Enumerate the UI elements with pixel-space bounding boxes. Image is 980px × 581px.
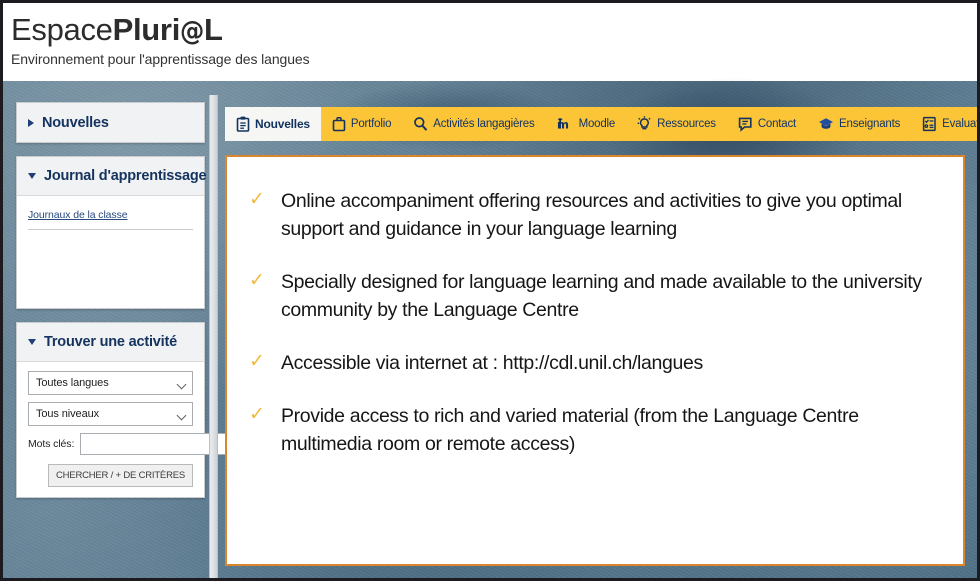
tab-nouvelles-label: Nouvelles bbox=[255, 117, 310, 131]
tab-activites-langagieres-label: Activités langagières bbox=[433, 118, 534, 130]
tab-ressources[interactable]: Ressources bbox=[626, 107, 727, 141]
logo-text-pluri: Pluri bbox=[113, 12, 180, 47]
bullet-item: ✓ Specially designed for language learni… bbox=[249, 268, 941, 324]
search-icon bbox=[413, 116, 428, 132]
moodle-icon: m bbox=[557, 116, 574, 132]
keywords-row: Mots clés: bbox=[28, 433, 193, 455]
chevron-down-icon bbox=[28, 339, 36, 345]
sidebar-panel-trouver-activite: Trouver une activité Toutes langues Tous… bbox=[16, 322, 205, 498]
tab-enseignants-label: Enseignants bbox=[839, 118, 900, 130]
sidebar-panel-nouvelles: Nouvelles bbox=[16, 102, 205, 143]
level-select-row: Tous niveaux bbox=[28, 402, 193, 426]
sidebar: Nouvelles Journal d'apprentissage Journa… bbox=[16, 102, 205, 511]
tab-contact-label: Contact bbox=[758, 118, 796, 130]
chevron-down-icon bbox=[177, 380, 187, 390]
sidebar-panel-nouvelles-header[interactable]: Nouvelles bbox=[17, 103, 204, 142]
tab-evaluations-label: Evaluations bbox=[942, 118, 980, 130]
briefcase-icon bbox=[332, 116, 346, 132]
checkmark-icon: ✓ bbox=[249, 271, 267, 290]
chevron-down-icon bbox=[177, 411, 187, 421]
bullet-item: ✓ Online accompaniment offering resource… bbox=[249, 187, 941, 243]
tab-activites-langagieres[interactable]: Activités langagières bbox=[402, 107, 545, 141]
lightbulb-icon bbox=[637, 116, 652, 132]
divider-rule bbox=[28, 229, 193, 230]
site-tagline: Environnement pour l'apprentissage des l… bbox=[11, 50, 977, 68]
message-icon bbox=[738, 116, 753, 132]
clipboard-icon bbox=[236, 116, 250, 132]
keywords-label: Mots clés: bbox=[28, 438, 74, 450]
site-header: EspacePluri@L Environnement pour l'appre… bbox=[3, 3, 977, 81]
main-tab-bar: Nouvelles Portfolio Activités langagière… bbox=[225, 107, 980, 141]
activity-search-form: Toutes langues Tous niveaux Mots clés: C… bbox=[17, 362, 204, 497]
tab-portfolio[interactable]: Portfolio bbox=[321, 107, 402, 141]
language-select-value: Toutes langues bbox=[36, 377, 109, 389]
checkmark-icon: ✓ bbox=[249, 405, 267, 424]
bullet-text: Online accompaniment offering resources … bbox=[281, 187, 941, 243]
checkmark-icon: ✓ bbox=[249, 190, 267, 209]
sidebar-panel-trouver-activite-title: Trouver une activité bbox=[44, 334, 177, 350]
sidebar-panel-nouvelles-title: Nouvelles bbox=[42, 115, 109, 131]
language-select-row: Toutes langues bbox=[28, 371, 193, 395]
logo-at-glyph: @ bbox=[180, 16, 204, 47]
sidebar-panel-journal-title: Journal d'apprentissage bbox=[44, 168, 206, 184]
tab-moodle[interactable]: m Moodle bbox=[546, 107, 627, 141]
level-select[interactable]: Tous niveaux bbox=[28, 402, 193, 426]
vertical-scrollbar[interactable] bbox=[209, 95, 218, 578]
search-button[interactable]: CHERCHER / + DE CRITÈRES bbox=[48, 464, 193, 487]
site-logo: EspacePluri@L bbox=[11, 13, 977, 49]
sidebar-panel-trouver-activite-header[interactable]: Trouver une activité bbox=[17, 323, 204, 362]
sidebar-panel-journal: Journal d'apprentissage Journaux de la c… bbox=[16, 156, 205, 309]
tab-ressources-label: Ressources bbox=[657, 118, 716, 130]
language-select[interactable]: Toutes langues bbox=[28, 371, 193, 395]
bullet-item: ✓ Accessible via internet at : http://cd… bbox=[249, 349, 941, 377]
bullet-text: Accessible via internet at : http://cdl.… bbox=[281, 349, 703, 377]
logo-text-l: L bbox=[204, 12, 223, 47]
bullet-text: Specially designed for language learning… bbox=[281, 268, 941, 324]
search-button-row: CHERCHER / + DE CRITÈRES bbox=[28, 464, 193, 487]
link-journaux-de-la-classe[interactable]: Journaux de la classe bbox=[28, 209, 127, 221]
application-window: EspacePluri@L Environnement pour l'appre… bbox=[0, 0, 980, 581]
main-content-panel: ✓ Online accompaniment offering resource… bbox=[225, 155, 965, 566]
tab-portfolio-label: Portfolio bbox=[351, 118, 391, 130]
sidebar-panel-journal-header[interactable]: Journal d'apprentissage bbox=[17, 157, 204, 196]
logo-text-espace: Espace bbox=[11, 12, 113, 47]
bullet-item: ✓ Provide access to rich and varied mate… bbox=[249, 402, 941, 458]
chevron-right-icon bbox=[28, 119, 34, 127]
tab-moodle-label: Moodle bbox=[579, 118, 616, 130]
chevron-down-icon bbox=[28, 173, 36, 179]
tab-enseignants[interactable]: Enseignants bbox=[807, 107, 911, 141]
tab-contact[interactable]: Contact bbox=[727, 107, 807, 141]
tab-evaluations[interactable]: Evaluations bbox=[911, 107, 980, 141]
graduation-cap-icon bbox=[818, 116, 834, 132]
checkmark-icon: ✓ bbox=[249, 352, 267, 371]
checklist-icon bbox=[922, 116, 937, 132]
sidebar-panel-journal-body: Journaux de la classe bbox=[17, 196, 204, 308]
tab-nouvelles[interactable]: Nouvelles bbox=[225, 107, 321, 141]
level-select-value: Tous niveaux bbox=[36, 408, 99, 420]
bullet-text: Provide access to rich and varied materi… bbox=[281, 402, 941, 458]
